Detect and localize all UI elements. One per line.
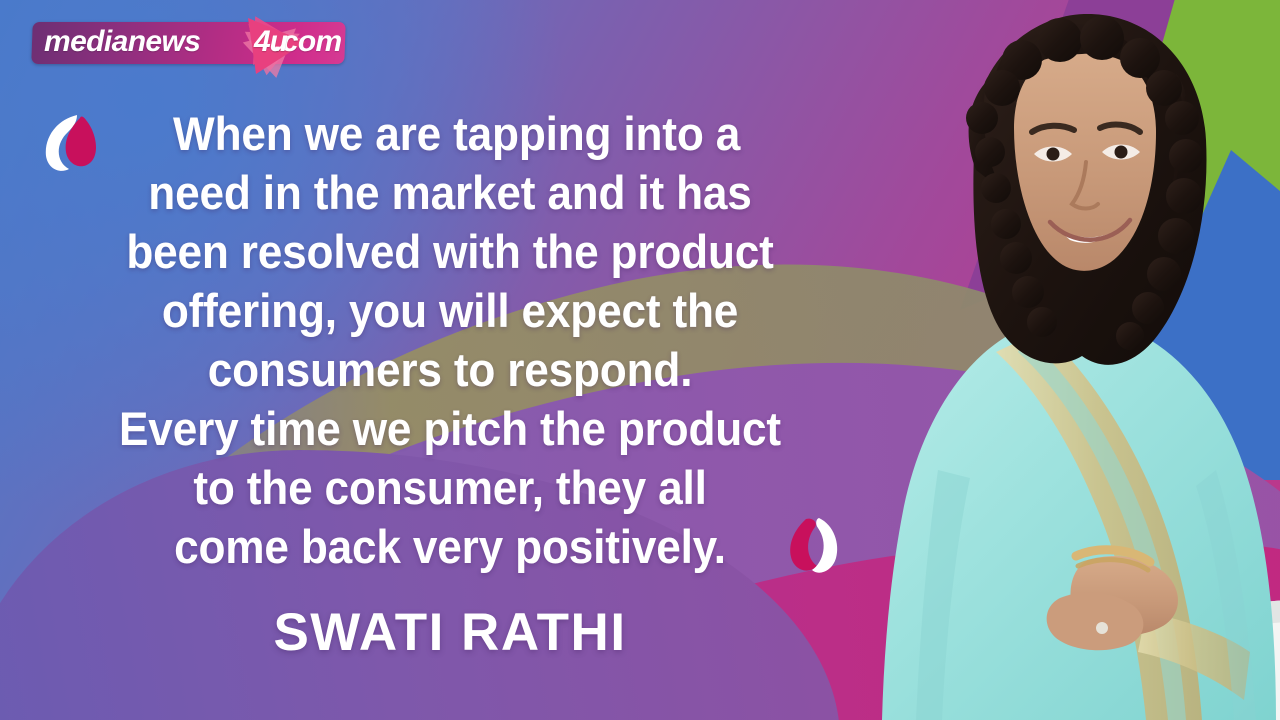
- logo-word: medianews: [44, 25, 200, 59]
- logo[interactable]: medianews 4u .com: [28, 19, 353, 67]
- quote-line: When we are tapping into a: [27, 104, 873, 163]
- open-quote-mark-icon: [44, 112, 102, 174]
- quote-line: Every time we pitch the product: [27, 399, 873, 458]
- saree: [882, 318, 1276, 720]
- quote-text: When we are tapping into a need in the m…: [0, 104, 900, 576]
- close-quote-mark-icon: [786, 516, 840, 576]
- quote-line: offering, you will expect the: [27, 281, 873, 340]
- quote-line: to the consumer, they all: [27, 458, 873, 517]
- quote-card: medianews 4u .com When we are tapping in…: [0, 0, 1280, 720]
- speaker-name: SWATI RATHI: [0, 602, 900, 663]
- quote-line: consumers to respond.: [27, 340, 873, 399]
- logo-accent: 4u: [254, 25, 287, 59]
- speaker-portrait: [846, 0, 1280, 720]
- quote-line: need in the market and it has: [27, 163, 873, 222]
- quote-line: come back very positively.: [27, 517, 873, 576]
- quote-line: been resolved with the product: [27, 222, 873, 281]
